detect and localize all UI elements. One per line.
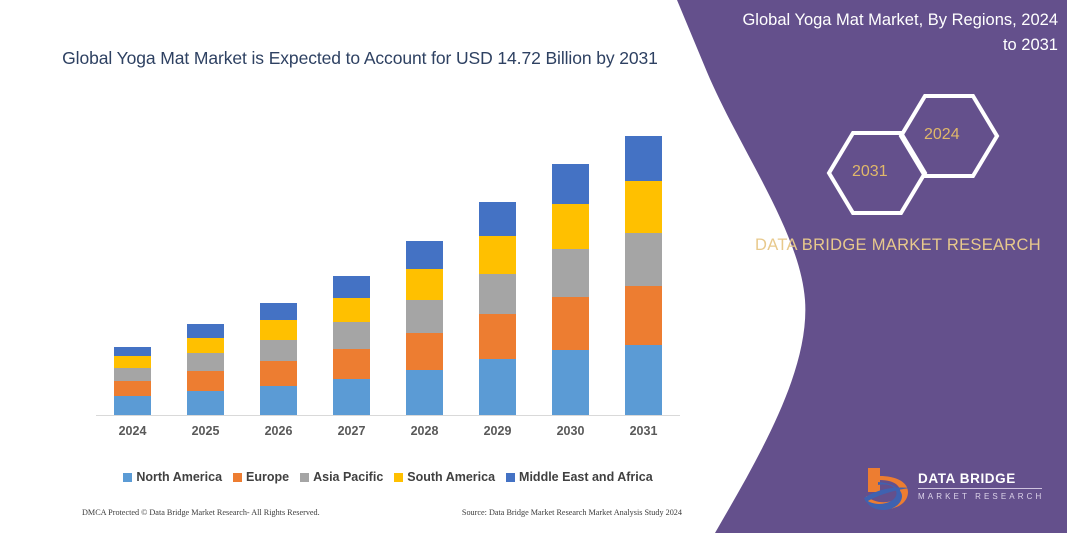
legend-item[interactable]: Asia Pacific	[300, 470, 383, 484]
legend-swatch-icon	[300, 473, 309, 482]
legend-item[interactable]: Europe	[233, 470, 289, 484]
x-axis-labels: 20242025202620272028202920302031	[96, 424, 680, 446]
legend-label: North America	[136, 470, 222, 484]
x-axis-tick-label: 2024	[96, 424, 169, 438]
bar-segment[interactable]	[187, 371, 224, 392]
bar-segment[interactable]	[187, 391, 224, 416]
stacked-bar[interactable]	[260, 303, 297, 416]
bar-segment[interactable]	[406, 370, 443, 416]
bar-segment[interactable]	[552, 204, 589, 249]
bar-segment[interactable]	[114, 396, 151, 416]
bar-segment[interactable]	[552, 297, 589, 351]
bar-group	[96, 120, 169, 416]
bar-segment[interactable]	[479, 314, 516, 359]
bar-segment[interactable]	[552, 350, 589, 416]
bar-segment[interactable]	[114, 347, 151, 356]
legend-swatch-icon	[123, 473, 132, 482]
footer-source: Source: Data Bridge Market Research Mark…	[462, 508, 682, 517]
bar-segment[interactable]	[406, 269, 443, 300]
legend-label: Europe	[246, 470, 289, 484]
hexagon-badges: 2031 2024	[730, 95, 1067, 205]
stacked-bar[interactable]	[333, 276, 370, 416]
bar-segment[interactable]	[260, 320, 297, 340]
hex-label-2031: 2031	[852, 163, 888, 181]
bar-segment[interactable]	[479, 274, 516, 314]
legend-swatch-icon	[394, 473, 403, 482]
stacked-bar[interactable]	[552, 164, 589, 416]
bar-segment[interactable]	[333, 349, 370, 379]
bar-segment[interactable]	[114, 356, 151, 367]
x-axis-line	[96, 415, 680, 416]
x-axis-tick-label: 2031	[607, 424, 680, 438]
legend-item[interactable]: Middle East and Africa	[506, 470, 653, 484]
infographic-canvas: Global Yoga Mat Market is Expected to Ac…	[0, 0, 1067, 533]
x-axis-tick-label: 2025	[169, 424, 242, 438]
bar-segment[interactable]	[625, 345, 662, 416]
hex-label-2024: 2024	[924, 126, 960, 144]
bar-segment[interactable]	[479, 202, 516, 236]
bar-segment[interactable]	[260, 386, 297, 416]
panel-title: Global Yoga Mat Market, By Regions, 2024…	[738, 8, 1058, 58]
chart-panel: Global Yoga Mat Market is Expected to Ac…	[0, 0, 720, 533]
footer-bar: DMCA Protected © Data Bridge Market Rese…	[82, 508, 682, 517]
bar-segment[interactable]	[625, 286, 662, 345]
bar-segment[interactable]	[406, 300, 443, 333]
bar-segment[interactable]	[406, 241, 443, 269]
stacked-bar[interactable]	[406, 241, 443, 416]
x-axis-tick-label: 2028	[388, 424, 461, 438]
bar-segment[interactable]	[260, 303, 297, 321]
legend-label: Middle East and Africa	[519, 470, 653, 484]
bar-group	[607, 120, 680, 416]
data-bridge-logo: DATA BRIDGE MARKET RESEARCH	[862, 466, 1052, 512]
logo-primary-text: DATA BRIDGE	[918, 471, 1044, 486]
bar-segment[interactable]	[625, 136, 662, 181]
bar-segment[interactable]	[333, 276, 370, 298]
bar-segment[interactable]	[552, 249, 589, 296]
legend-item[interactable]: North America	[123, 470, 222, 484]
bar-group	[534, 120, 607, 416]
logo-b-mark	[862, 466, 914, 512]
logo-text-block: DATA BRIDGE MARKET RESEARCH	[918, 471, 1044, 501]
legend-label: South America	[407, 470, 495, 484]
footer-copyright: DMCA Protected © Data Bridge Market Rese…	[82, 508, 320, 517]
logo-divider	[918, 488, 1042, 489]
bar-segment[interactable]	[479, 359, 516, 416]
bar-segment[interactable]	[187, 338, 224, 353]
bar-segment[interactable]	[187, 324, 224, 337]
x-axis-tick-label: 2027	[315, 424, 388, 438]
brand-name: DATA BRIDGE MARKET RESEARCH	[748, 232, 1048, 259]
legend-swatch-icon	[506, 473, 515, 482]
legend-swatch-icon	[233, 473, 242, 482]
bar-segment[interactable]	[333, 379, 370, 416]
stacked-bar[interactable]	[114, 347, 151, 416]
x-axis-tick-label: 2029	[461, 424, 534, 438]
bar-segment[interactable]	[552, 164, 589, 204]
bar-segment[interactable]	[260, 361, 297, 386]
chart-legend: North AmericaEuropeAsia PacificSouth Ame…	[96, 470, 680, 484]
bar-segment[interactable]	[114, 381, 151, 396]
chart-plot-area	[96, 120, 680, 416]
bar-group	[388, 120, 461, 416]
chart-title: Global Yoga Mat Market is Expected to Ac…	[50, 44, 670, 72]
logo-secondary-text: MARKET RESEARCH	[918, 492, 1044, 501]
x-axis-tick-label: 2030	[534, 424, 607, 438]
stacked-bar[interactable]	[625, 136, 662, 416]
bar-segment[interactable]	[187, 353, 224, 371]
x-axis-tick-label: 2026	[242, 424, 315, 438]
bar-segment[interactable]	[333, 322, 370, 349]
bar-segment[interactable]	[114, 368, 151, 381]
purple-panel-content: Global Yoga Mat Market, By Regions, 2024…	[730, 0, 1067, 533]
bar-segment[interactable]	[260, 340, 297, 362]
bar-segment[interactable]	[625, 181, 662, 232]
bar-group	[242, 120, 315, 416]
bar-group	[315, 120, 388, 416]
stacked-bar[interactable]	[479, 202, 516, 416]
bar-segment[interactable]	[625, 233, 662, 287]
bar-segment[interactable]	[479, 236, 516, 274]
bar-group	[169, 120, 242, 416]
stacked-bar[interactable]	[187, 324, 224, 416]
legend-item[interactable]: South America	[394, 470, 495, 484]
bar-group	[461, 120, 534, 416]
bar-segment[interactable]	[406, 333, 443, 370]
legend-label: Asia Pacific	[313, 470, 383, 484]
bar-segment[interactable]	[333, 298, 370, 323]
